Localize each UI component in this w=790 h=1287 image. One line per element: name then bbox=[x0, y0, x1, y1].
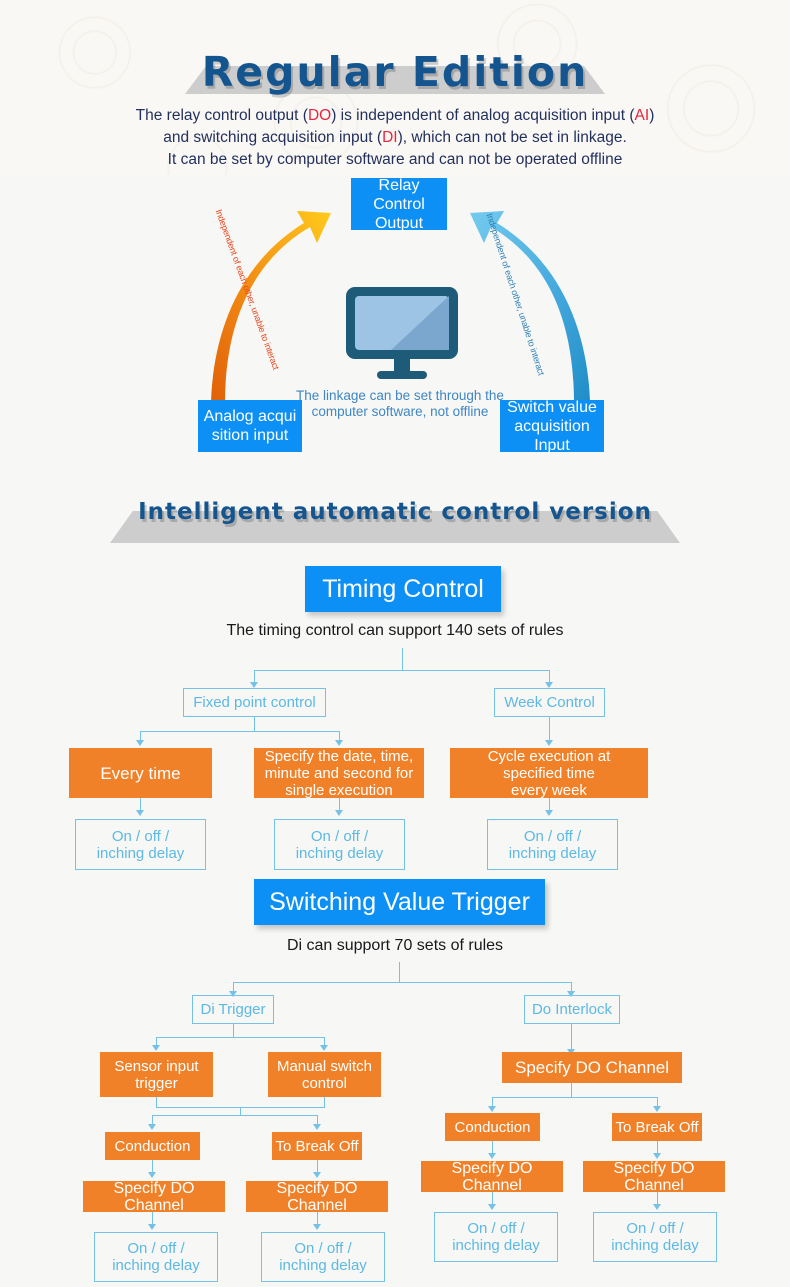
banner-intelligent-version: Intelligent automatic control version bbox=[0, 485, 790, 545]
specify-do-channel-left-1[interactable]: Specify DO Channel bbox=[83, 1181, 225, 1212]
intro-line1-c: ) bbox=[649, 107, 654, 124]
switching-trunk-line bbox=[399, 962, 400, 982]
week-control-arrow bbox=[545, 740, 553, 746]
right-break-off-arrow bbox=[653, 1106, 661, 1112]
delay-box-switch-left-1[interactable]: On / off /inching delay bbox=[94, 1232, 218, 1282]
do-interlock-box[interactable]: Do Interlock bbox=[524, 995, 620, 1024]
delay-box-switch-left-2[interactable]: On / off /inching delay bbox=[261, 1232, 385, 1282]
intro-line-3: It can be set by computer software and c… bbox=[0, 149, 790, 171]
linkage-note: The linkage can be set through thecomput… bbox=[270, 388, 530, 420]
right-delay-arrow-2 bbox=[653, 1204, 661, 1210]
specify-do-channel-right-top[interactable]: Specify DO Channel bbox=[502, 1052, 682, 1083]
right-break-channel-arrow bbox=[653, 1153, 661, 1159]
break-off-channel-arrow bbox=[313, 1172, 321, 1178]
conduction-box-left[interactable]: Conduction bbox=[105, 1132, 200, 1160]
right-delay-arrow-1 bbox=[488, 1204, 496, 1210]
intro-line2-a: and switching acquisition input ( bbox=[163, 129, 382, 146]
sensor-merge-line bbox=[156, 1097, 157, 1107]
timing-trunk-line bbox=[402, 648, 403, 670]
state-split-bar bbox=[152, 1115, 318, 1116]
switch-value-acquisition-input-box[interactable]: Switch valueacquisitionInput bbox=[500, 400, 604, 452]
specify-date-delay-arrow bbox=[335, 810, 343, 816]
right-state-drop bbox=[571, 1083, 572, 1097]
intro-line1-a: The relay control output ( bbox=[136, 107, 308, 124]
conduction-channel-arrow bbox=[148, 1172, 156, 1178]
right-state-split bbox=[492, 1097, 658, 1098]
sensor-input-arrow bbox=[152, 1045, 160, 1051]
sensor-input-trigger-box[interactable]: Sensor inputtrigger bbox=[100, 1052, 213, 1097]
analog-acquisition-input-box[interactable]: Analog acquisition input bbox=[198, 400, 302, 452]
specify-do-channel-left-2[interactable]: Specify DO Channel bbox=[246, 1181, 388, 1212]
intro-ai-tag: AI bbox=[635, 107, 650, 124]
di-trigger-box[interactable]: Di Trigger bbox=[192, 995, 274, 1024]
intro-line-2: and switching acquisition input (DI), wh… bbox=[0, 127, 790, 149]
relay-control-output-box[interactable]: Relay ControlOutput bbox=[351, 178, 447, 230]
intro-line2-b: ), which can not be set in linkage. bbox=[398, 129, 627, 146]
banner-regular-edition: Regular Edition bbox=[0, 26, 790, 96]
specify-do-channel-right-1[interactable]: Specify DO Channel bbox=[421, 1161, 563, 1192]
right-conduction-channel-arrow bbox=[488, 1153, 496, 1159]
intro-do-tag: DO bbox=[308, 107, 331, 124]
week-control-drop bbox=[549, 717, 550, 742]
do-interlock-channel-line bbox=[571, 1024, 572, 1051]
trigger-merge-drop bbox=[240, 1107, 241, 1115]
intro-line-1: The relay control output (DO) is indepen… bbox=[0, 105, 790, 127]
monitor-icon bbox=[344, 285, 460, 380]
manual-switch-arrow bbox=[320, 1045, 328, 1051]
every-time-arrow bbox=[136, 740, 144, 746]
delay-box-timing-2[interactable]: On / off /inching delay bbox=[274, 819, 405, 870]
intro-paragraph: The relay control output (DO) is indepen… bbox=[0, 105, 790, 171]
every-time-box[interactable]: Every time bbox=[69, 748, 212, 798]
conduction-box-right[interactable]: Conduction bbox=[445, 1113, 540, 1141]
manual-merge-line bbox=[324, 1097, 325, 1107]
specify-date-time-box[interactable]: Specify the date, time,minute and second… bbox=[254, 748, 424, 798]
banner-intelligent-title: Intelligent automatic control version bbox=[0, 485, 790, 525]
delay-box-timing-1[interactable]: On / off /inching delay bbox=[75, 819, 206, 870]
switching-value-trigger-header[interactable]: Switching Value Trigger bbox=[254, 879, 545, 925]
di-trigger-child-split bbox=[156, 1037, 325, 1038]
switching-value-caption: Di can support 70 sets of rules bbox=[145, 937, 645, 955]
break-off-arrow bbox=[313, 1124, 321, 1130]
timing-control-caption: The timing control can support 140 sets … bbox=[145, 622, 645, 640]
fixed-point-split bbox=[140, 731, 340, 732]
delay-box-switch-right-1[interactable]: On / off /inching delay bbox=[434, 1212, 558, 1262]
left-delay-arrow-2 bbox=[313, 1224, 321, 1230]
timing-split-line bbox=[254, 670, 550, 671]
delay-box-switch-right-2[interactable]: On / off /inching delay bbox=[593, 1212, 717, 1262]
every-time-delay-arrow bbox=[136, 810, 144, 816]
fixed-point-drop bbox=[254, 717, 255, 731]
break-off-box-left[interactable]: To Break Off bbox=[272, 1132, 362, 1160]
break-off-box-right[interactable]: To Break Off bbox=[612, 1113, 702, 1141]
manual-switch-control-box[interactable]: Manual switchcontrol bbox=[268, 1052, 381, 1097]
intro-line1-b: ) is independent of analog acquisition i… bbox=[331, 107, 634, 124]
timing-control-header[interactable]: Timing Control bbox=[305, 566, 501, 612]
right-conduction-arrow bbox=[488, 1106, 496, 1112]
cycle-execution-box[interactable]: Cycle execution atspecified timeevery we… bbox=[450, 748, 648, 798]
left-delay-arrow-1 bbox=[148, 1224, 156, 1230]
switching-split-line bbox=[233, 982, 571, 983]
di-trigger-child-drop bbox=[233, 1024, 234, 1037]
intro-di-tag: DI bbox=[382, 129, 398, 146]
specify-date-arrow bbox=[335, 740, 343, 746]
week-control-box[interactable]: Week Control bbox=[494, 688, 605, 717]
banner-regular-title: Regular Edition bbox=[0, 26, 790, 96]
fixed-point-control-box[interactable]: Fixed point control bbox=[183, 688, 326, 717]
specify-do-channel-right-2[interactable]: Specify DO Channel bbox=[583, 1161, 725, 1192]
delay-box-timing-3[interactable]: On / off /inching delay bbox=[487, 819, 618, 870]
conduction-arrow bbox=[148, 1124, 156, 1130]
cycle-delay-arrow bbox=[545, 810, 553, 816]
